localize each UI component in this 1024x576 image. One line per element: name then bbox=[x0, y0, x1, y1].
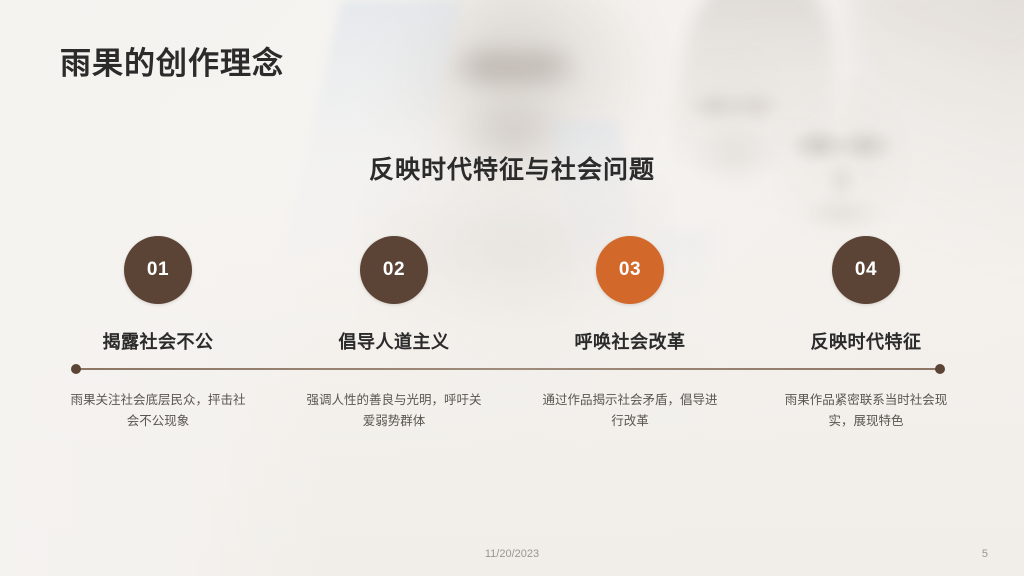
item-columns: 01 揭露社会不公 雨果关注社会底层民众，抨击社会不公现象 02 倡导人道主义 … bbox=[40, 236, 984, 431]
item-description-03: 通过作品揭示社会矛盾，倡导进行改革 bbox=[542, 390, 718, 431]
presentation-slide: 雨果的创作理念 反映时代特征与社会问题 01 揭露社会不公 雨果关注社会底层民众… bbox=[0, 0, 1024, 576]
list-item[interactable]: 02 倡导人道主义 强调人性的善良与光明，呼吁关爱弱势群体 bbox=[276, 236, 512, 431]
item-number-badge-02: 02 bbox=[360, 236, 428, 304]
slide-subtitle: 反映时代特征与社会问题 bbox=[0, 150, 1024, 186]
item-number-badge-01: 01 bbox=[124, 236, 192, 304]
list-item[interactable]: 04 反映时代特征 雨果作品紧密联系当时社会现实，展现特色 bbox=[748, 236, 984, 431]
item-heading-03: 呼唤社会改革 bbox=[575, 328, 686, 354]
list-item[interactable]: 01 揭露社会不公 雨果关注社会底层民众，抨击社会不公现象 bbox=[40, 236, 276, 431]
item-number-badge-03: 03 bbox=[596, 236, 664, 304]
list-item[interactable]: 03 呼唤社会改革 通过作品揭示社会矛盾，倡导进行改革 bbox=[512, 236, 748, 431]
page-title: 雨果的创作理念 bbox=[60, 38, 284, 83]
item-description-02: 强调人性的善良与光明，呼吁关爱弱势群体 bbox=[306, 390, 482, 431]
item-description-04: 雨果作品紧密联系当时社会现实，展现特色 bbox=[778, 390, 954, 431]
item-number-badge-04: 04 bbox=[832, 236, 900, 304]
item-heading-02: 倡导人道主义 bbox=[339, 328, 450, 354]
item-description-01: 雨果关注社会底层民众，抨击社会不公现象 bbox=[70, 390, 246, 431]
item-heading-01: 揭露社会不公 bbox=[103, 328, 214, 354]
footer-date: 11/20/2023 bbox=[0, 548, 1024, 560]
item-heading-04: 反映时代特征 bbox=[811, 328, 922, 354]
slide-content: 雨果的创作理念 反映时代特征与社会问题 01 揭露社会不公 雨果关注社会底层民众… bbox=[0, 0, 1024, 576]
footer-page-number: 5 bbox=[982, 548, 988, 560]
